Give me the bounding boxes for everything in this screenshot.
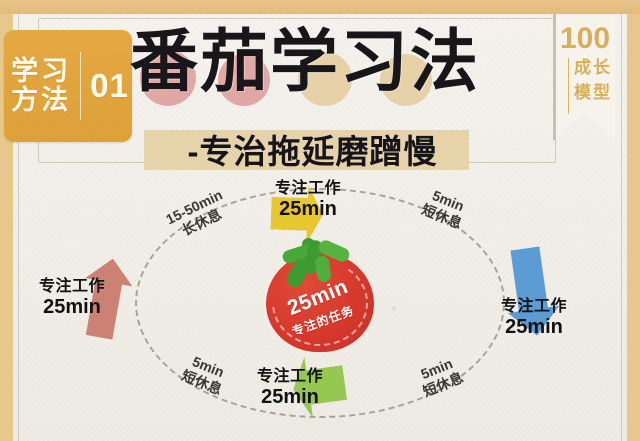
header: 学习 方法 01 番茄学习法 -专治拖延磨蹭慢 100 成长 模型: [0, 14, 640, 169]
pomodoro-cycle-diagram: 25min 专注的任务 专注工作 25min 专注工作 25min 专注工作 2…: [0, 170, 640, 441]
label-work-left-line2: 25min: [0, 296, 152, 318]
page-title: 番茄学习法: [130, 28, 510, 97]
ribbon-subtitle-line1: 成长: [572, 56, 614, 81]
label-work-right-line2: 25min: [454, 316, 614, 338]
page-subtitle: -专治拖延磨蹭慢: [150, 127, 475, 171]
lesson-badge-words: 学习 方法: [11, 57, 71, 115]
label-work-right: 专注工作 25min: [454, 298, 614, 338]
ribbon-divider: [568, 58, 569, 114]
label-work-right-line1: 专注工作: [454, 298, 614, 316]
lesson-badge-number: 01: [90, 67, 129, 105]
label-work-left: 专注工作 25min: [0, 278, 152, 318]
lesson-badge-content: 学习 方法 01: [7, 52, 129, 120]
lesson-badge-line2: 方法: [11, 86, 71, 115]
ribbon-subtitle: 成长 模型: [572, 56, 614, 105]
infographic-page: 学习 方法 01 番茄学习法 -专治拖延磨蹭慢 100 成长 模型: [0, 0, 640, 441]
ribbon-subtitle-line2: 模型: [572, 81, 614, 106]
lesson-badge: 学习 方法 01: [4, 30, 132, 142]
tomato-illustration: 25min 专注的任务: [262, 238, 378, 354]
label-work-left-line1: 专注工作: [0, 278, 152, 296]
lesson-badge-divider: [80, 52, 81, 120]
top-border-band: [0, 0, 640, 14]
ribbon-number: 100: [556, 22, 614, 56]
title-area: 番茄学习法: [130, 24, 510, 124]
lesson-badge-line1: 学习: [11, 57, 71, 86]
